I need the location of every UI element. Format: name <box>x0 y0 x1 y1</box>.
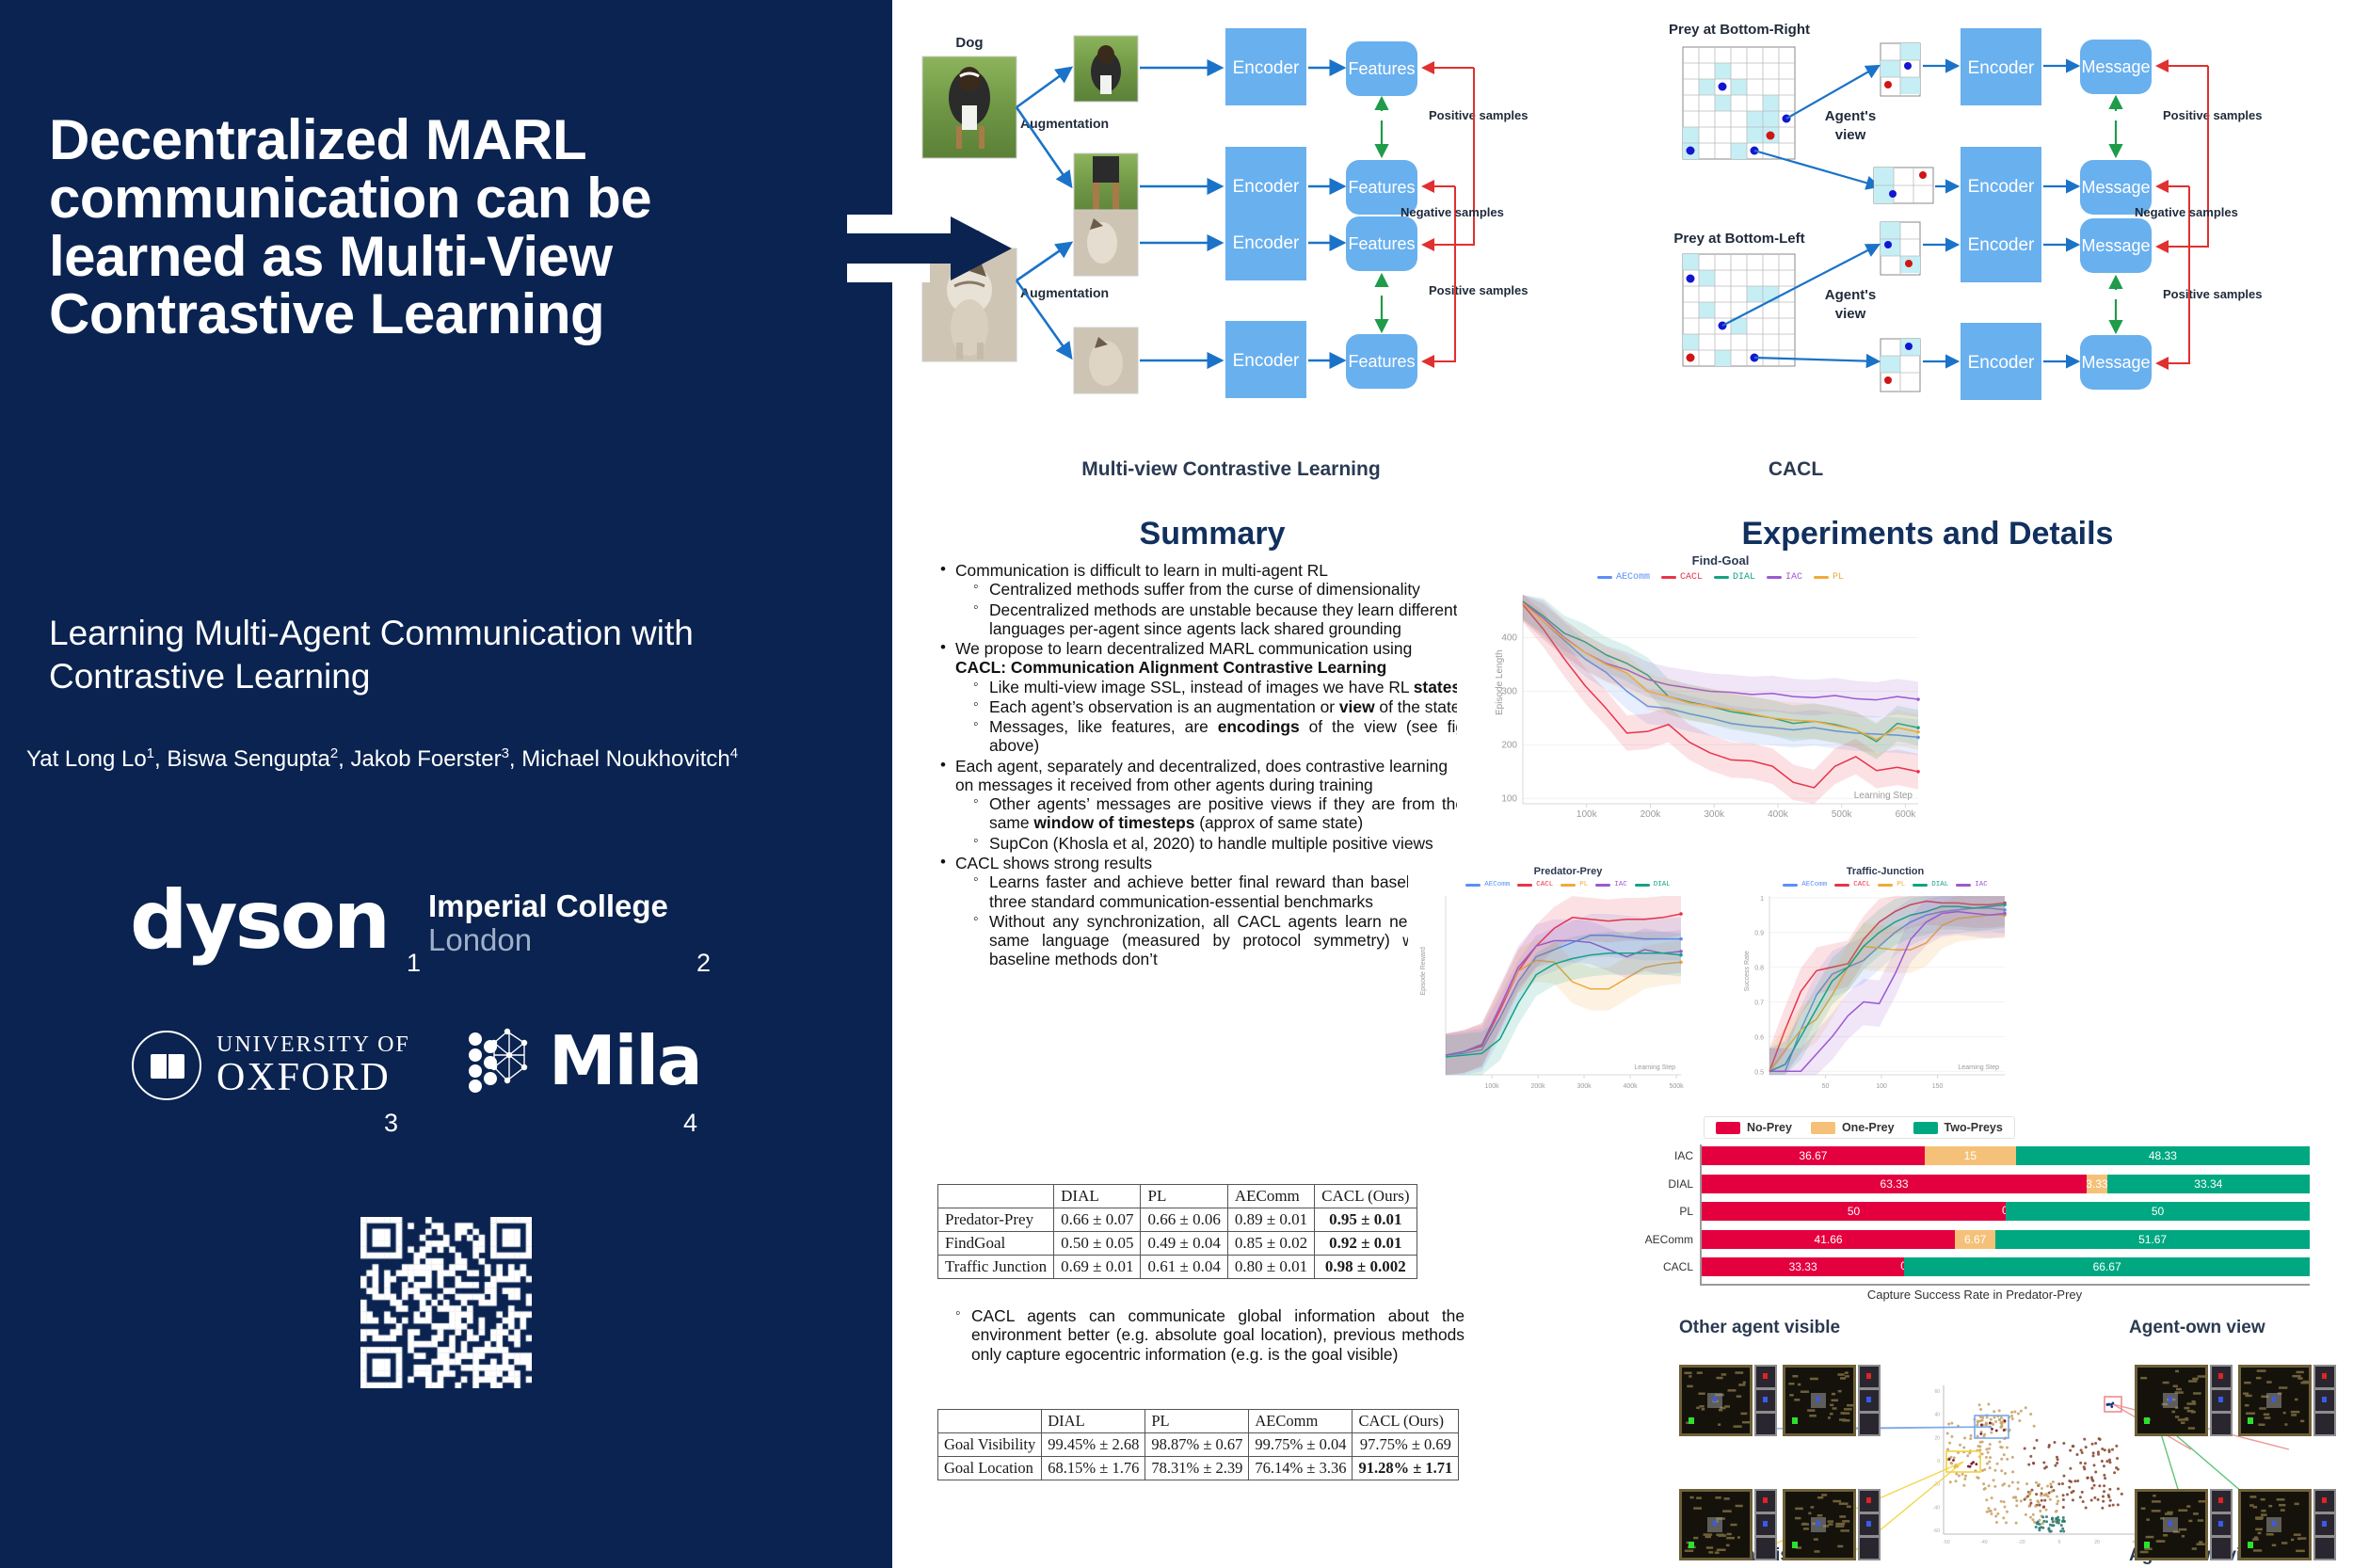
svg-text:Agent's: Agent's <box>1825 287 1876 303</box>
y-axis-tick-label: 200 <box>1501 740 1517 750</box>
predator-prey-plot: 100k200k300k400k500kLearning StepEpisode… <box>1408 864 1728 1109</box>
table-column-header <box>938 1410 1042 1433</box>
capture-success-rate-chart: No-PreyOne-PreyTwo-Preys IAC36.671548.33… <box>1636 1116 2313 1304</box>
table-row-label: Goal Location <box>938 1457 1042 1480</box>
table-cell: 98.87% ± 0.67 <box>1145 1433 1249 1457</box>
svg-text:Positive samples: Positive samples <box>2163 108 2263 122</box>
y-axis-tick-label: 0.8 <box>1754 966 1764 972</box>
table-cell: 0.95 ± 0.01 <box>1315 1208 1417 1232</box>
table-row-label: Predator-Prey <box>938 1208 1054 1232</box>
dyson-logo-text: dyson <box>130 880 388 961</box>
section-heading-experiments: Experiments and Details <box>1513 516 2342 552</box>
bar-value-label: 48.33 <box>2149 1149 2177 1162</box>
table-cell: 0.80 ± 0.01 <box>1227 1256 1314 1279</box>
table-column-header: CACL (Ours) <box>1353 1410 1459 1433</box>
svg-text:Augmentation: Augmentation <box>1020 116 1109 131</box>
table-column-header <box>938 1185 1054 1208</box>
bar-value-label: 66.67 <box>2093 1260 2121 1273</box>
author-list: Yat Long Lo1, Biswa Sengupta2, Jakob Foe… <box>26 745 892 773</box>
x-axis-tick-label: 100k <box>1484 1083 1499 1090</box>
bar-segment-no-prey: 36.67 <box>1702 1146 1925 1165</box>
maze-thumbnail-agent-own-view-2 <box>2238 1365 2336 1436</box>
bar-value-label: 15 <box>1964 1149 1977 1162</box>
svg-text:Features: Features <box>1348 178 1415 197</box>
university-of-oxford-logo: UNIVERSITY OF OXFORD <box>132 1031 410 1100</box>
legend-color-swatch <box>1811 1122 1835 1134</box>
summary-sub-bullets: Other agents’ messages are positive view… <box>971 794 1465 853</box>
table-cell: 0.66 ± 0.06 <box>1141 1208 1227 1232</box>
mila-logo: Mila <box>466 1026 701 1096</box>
table-row-label: FindGoal <box>938 1232 1054 1256</box>
svg-text:Message: Message <box>2081 178 2150 197</box>
maze-thumbnail-goal-visible-1 <box>1679 1489 1777 1560</box>
poster-right-panel: Dog Augmentation Cat <box>892 0 2353 1568</box>
author-affiliation-index: 2 <box>330 745 338 761</box>
bar-category-label: IAC <box>1674 1146 1702 1165</box>
bar-segment-one-prey: 6.67 <box>1955 1230 1995 1249</box>
table-column-header: PL <box>1145 1410 1249 1433</box>
summary-sub-bullet: Learns faster and achieve better final r… <box>971 872 1465 911</box>
bar-value-label: 6.67 <box>1964 1233 1986 1246</box>
figure-caption-cacl: CACL <box>1570 458 2022 481</box>
stacked-bar-x-title: Capture Success Rate in Predator-Prey <box>1636 1288 2313 1302</box>
bar-segment-no-prey: 33.33 <box>1702 1257 1904 1276</box>
summary-bullet: We propose to learn decentralized MARL c… <box>937 639 1465 756</box>
bar-value-label: 41.66 <box>1815 1233 1843 1246</box>
table-row: Goal Location68.15% ± 1.7678.31% ± 2.397… <box>938 1457 1459 1480</box>
bar-row: IAC36.671548.33 <box>1702 1146 2310 1165</box>
qr-code[interactable] <box>360 1217 532 1388</box>
svg-text:Positive samples: Positive samples <box>1429 283 1529 297</box>
table-row: Predator-Prey0.66 ± 0.070.66 ± 0.060.89 … <box>938 1208 1417 1232</box>
bar-segment-two-preys: 50 <box>2006 1202 2310 1221</box>
svg-text:Encoder: Encoder <box>1233 351 1300 371</box>
probing-paragraph-text: CACL agents can communicate global infor… <box>953 1306 1465 1364</box>
legend-item[interactable]: Two-Preys <box>1913 1121 2003 1134</box>
author-name: Michael Noukhovitch <box>521 746 729 772</box>
dyson-logo: dyson <box>130 880 388 961</box>
affiliation-number-3: 3 <box>384 1109 398 1138</box>
table-cell: 0.69 ± 0.01 <box>1054 1256 1141 1279</box>
svg-text:Positive samples: Positive samples <box>1429 108 1529 122</box>
svg-text:Augmentation: Augmentation <box>1020 285 1109 300</box>
summary-sub-bullet: Without any synchronization, all CACL ag… <box>971 912 1465 969</box>
table-column-header: DIAL <box>1054 1185 1141 1208</box>
bar-row: DIAL63.333.3333.34 <box>1702 1175 2310 1193</box>
table-row-label: Goal Visibility <box>938 1433 1042 1457</box>
legend-label: No-Prey <box>1747 1121 1792 1134</box>
maze-thumbnail-agent-own-view-1 <box>2135 1365 2233 1436</box>
author-affiliation-index: 4 <box>730 745 738 761</box>
legend-color-swatch <box>1716 1122 1740 1134</box>
summary-sub-bullets: Learns faster and achieve better final r… <box>971 872 1465 968</box>
legend-color-swatch <box>1913 1122 1938 1134</box>
summary-sub-bullets: Centralized methods suffer from the curs… <box>971 580 1465 638</box>
mila-logo-text: Mila <box>549 1027 701 1095</box>
tsne-scatter-plot: -50-40-2002040606040200-20-40-60 <box>1664 1318 2342 1568</box>
table-row: Goal Visibility99.45% ± 2.6898.87% ± 0.6… <box>938 1433 1459 1457</box>
table-cell: 76.14% ± 3.36 <box>1249 1457 1353 1480</box>
table-cell: 78.31% ± 2.39 <box>1145 1457 1249 1480</box>
y-axis-title: Episode Length <box>1495 649 1505 715</box>
bar-value-label: 50 <box>2152 1205 2164 1218</box>
table-cell: 0.92 ± 0.01 <box>1315 1232 1417 1256</box>
bar-category-label: PL <box>1679 1202 1702 1221</box>
x-axis-tick-label: -50 <box>1943 1540 1949 1545</box>
table-cell: 91.28% ± 1.71 <box>1353 1457 1459 1480</box>
bar-row: PL50050 <box>1702 1202 2310 1221</box>
mila-dots-icon <box>466 1026 539 1096</box>
svg-text:Message: Message <box>2081 57 2150 76</box>
x-axis-tick-label: -20 <box>2018 1540 2025 1545</box>
x-axis-tick-label: 50 <box>1822 1083 1830 1090</box>
affiliation-number-1: 1 <box>407 949 421 978</box>
svg-text:Prey at Bottom-Left: Prey at Bottom-Left <box>1673 231 1804 247</box>
author-name: Yat Long Lo <box>26 746 147 772</box>
bar-value-label: 36.67 <box>1799 1149 1827 1162</box>
x-axis-tick-label: 600k <box>1896 809 1917 820</box>
x-axis-tick-label: 500k <box>1832 809 1853 820</box>
svg-text:Encoder: Encoder <box>1233 58 1300 78</box>
table-cell: 0.49 ± 0.04 <box>1141 1232 1227 1256</box>
svg-text:Negative samples: Negative samples <box>2135 205 2238 219</box>
table-cell: 0.50 ± 0.05 <box>1054 1232 1141 1256</box>
maze-thumbnail-agent-own-view-4 <box>2238 1489 2336 1560</box>
x-axis-title: Learning Step <box>1634 1064 1675 1071</box>
summary-bullet-list: Communication is difficult to learn in m… <box>937 561 1465 970</box>
x-axis-tick-label: 300k <box>1704 809 1725 820</box>
svg-text:Message: Message <box>2081 236 2150 255</box>
bar-row: AEComm41.666.6751.67 <box>1702 1230 2310 1249</box>
bar-segment-two-preys: 33.34 <box>2107 1175 2310 1193</box>
summary-bullet-emphasis: CACL: Communication Alignment Contrastiv… <box>955 658 1465 677</box>
y-axis-tick-label: 400 <box>1501 633 1517 644</box>
x-axis-tick-label: 200k <box>1641 809 1662 820</box>
summary-sub-bullet: SupCon (Khosla et al, 2020) to handle mu… <box>971 834 1465 853</box>
x-axis-tick-label: 100k <box>1577 809 1598 820</box>
table-header-row: DIALPLAECommCACL (Ours) <box>938 1410 1459 1433</box>
y-axis-tick-label: 1 <box>1760 896 1764 903</box>
bar-segment-two-preys: 51.67 <box>1995 1230 2310 1249</box>
svg-text:Encoder: Encoder <box>1233 177 1300 197</box>
bar-value-label: 63.33 <box>1881 1177 1909 1191</box>
probing-accuracy-table: DIALPLAECommCACL (Ours) Goal Visibility9… <box>937 1409 1459 1480</box>
svg-text:Encoder: Encoder <box>1968 353 2035 373</box>
author-affiliation-index: 3 <box>502 745 509 761</box>
benchmark-performance-table: DIALPLAECommCACL (Ours) Predator-Prey0.6… <box>937 1184 1417 1279</box>
traffic-junction-plot: 0.50.60.70.80.9150100150Learning StepSuc… <box>1730 864 2041 1109</box>
bar-segment-two-preys: 66.67 <box>1904 1257 2310 1276</box>
table-column-header: AEComm <box>1249 1410 1353 1433</box>
x-axis-tick-label: 400k <box>1623 1083 1638 1090</box>
summary-sub-bullet-emphasis: window of timesteps <box>1033 813 1194 832</box>
icl-logo-line1: Imperial College <box>428 889 668 923</box>
y-axis-title: Success Rate <box>1744 951 1751 991</box>
summary-sub-bullet-emphasis: states <box>1414 678 1461 696</box>
legend-item[interactable]: One-Prey <box>1811 1121 1895 1134</box>
section-heading-summary: Summary <box>949 516 1476 552</box>
bar-segment-one-prey: 3.33 <box>2087 1175 2107 1193</box>
x-axis-tick-label: 200k <box>1530 1083 1545 1090</box>
summary-sub-bullet-emphasis: view <box>1339 697 1375 716</box>
summary-bullet: Communication is difficult to learn in m… <box>937 561 1465 638</box>
x-axis-tick-label: 150 <box>1932 1083 1944 1090</box>
bar-segment-two-preys: 48.33 <box>2016 1146 2310 1165</box>
y-axis-tick-label: 0.5 <box>1754 1069 1764 1076</box>
x-axis-tick-label: -40 <box>1980 1540 1987 1545</box>
svg-text:Positive samples: Positive samples <box>2163 287 2263 301</box>
y-axis-tick-label: -60 <box>1933 1528 1940 1534</box>
figure-caption-multiview: Multi-view Contrastive Learning <box>1005 458 1457 481</box>
svg-text:Features: Features <box>1348 352 1415 371</box>
summary-sub-bullet: Like multi-view image SSL, instead of im… <box>971 678 1465 696</box>
maze-thumbnail-other-agent-visible-2 <box>1783 1365 1881 1436</box>
bar-category-label: AEComm <box>1645 1230 1702 1249</box>
x-axis-tick-label: 0 <box>2058 1540 2061 1545</box>
predator-prey-chart: Predator-Prey AECommCACLPLIACDIAL 100k20… <box>1408 864 1728 1109</box>
table-cell: 0.85 ± 0.02 <box>1227 1232 1314 1256</box>
summary-bullet: Each agent, separately and decentralized… <box>937 757 1465 853</box>
table-header-row: DIALPLAECommCACL (Ours) <box>938 1185 1417 1208</box>
table-column-header: AEComm <box>1227 1185 1314 1208</box>
y-axis-tick-label: 60 <box>1934 1389 1940 1395</box>
table-cell: 0.66 ± 0.07 <box>1054 1208 1141 1232</box>
summary-sub-bullet-emphasis: encodings <box>1218 717 1300 736</box>
table-column-header: CACL (Ours) <box>1315 1185 1417 1208</box>
y-axis-tick-label: 40 <box>1934 1413 1940 1418</box>
svg-text:Encoder: Encoder <box>1233 233 1300 253</box>
table-cell: 97.75% ± 0.69 <box>1353 1433 1459 1457</box>
svg-text:view: view <box>1835 127 1866 143</box>
traffic-junction-chart: Traffic-Junction AECommCACLPLDIALIAC 0.5… <box>1730 864 2041 1109</box>
x-axis-tick-label: 300k <box>1577 1083 1592 1090</box>
y-axis-tick-label: 100 <box>1501 793 1517 804</box>
svg-text:Dog: Dog <box>955 35 983 51</box>
stacked-bar-x-axis <box>1700 1284 2310 1286</box>
y-axis-tick-label: 0 <box>1937 1459 1940 1464</box>
bar-row: CACL33.33066.67 <box>1702 1257 2310 1276</box>
summary-sub-bullet: Centralized methods suffer from the curs… <box>971 580 1465 599</box>
x-axis-tick-label: 20 <box>2094 1540 2100 1545</box>
x-axis-title: Learning Step <box>1958 1064 1999 1071</box>
table-cell: 99.75% ± 0.04 <box>1249 1433 1353 1457</box>
bar-category-label: CACL <box>1663 1257 1702 1276</box>
cacl-diagram: Prey at Bottom-Right <box>1636 8 2344 450</box>
svg-text:view: view <box>1835 306 1866 322</box>
bar-segment-no-prey: 50 <box>1702 1202 2006 1221</box>
table-cell: 99.45% ± 2.68 <box>1042 1433 1145 1457</box>
y-axis-tick-label: 0.9 <box>1754 931 1764 937</box>
bar-segment-no-prey: 63.33 <box>1702 1175 2087 1193</box>
summary-sub-bullet: Decentralized methods are unstable becau… <box>971 600 1465 639</box>
oxford-crest-icon <box>132 1031 201 1100</box>
bar-segment-no-prey: 41.66 <box>1702 1230 1955 1249</box>
svg-text:Features: Features <box>1348 59 1415 78</box>
maze-thumbnail-agent-own-view-3 <box>2135 1489 2233 1560</box>
y-axis-tick-label: 0.7 <box>1754 1000 1764 1007</box>
x-axis-title: Learning Step <box>1854 791 1913 801</box>
author-name: Jakob Foerster <box>351 746 502 772</box>
summary-sub-bullet: Messages, like features, are encodings o… <box>971 717 1465 756</box>
svg-text:Prey at Bottom-Right: Prey at Bottom-Right <box>1669 22 1810 38</box>
flow-arrow-icon <box>847 215 1016 282</box>
x-axis-tick-label: 100 <box>1876 1083 1887 1090</box>
summary-sub-bullets: Like multi-view image SSL, instead of im… <box>971 678 1465 756</box>
table-body: Goal Visibility99.45% ± 2.6898.87% ± 0.6… <box>938 1433 1459 1480</box>
bar-value-label: 51.67 <box>2138 1233 2167 1246</box>
y-axis-tick-label: 0.6 <box>1754 1034 1764 1041</box>
svg-text:Encoder: Encoder <box>1968 58 2035 78</box>
bar-segment-one-prey: 15 <box>1925 1146 2016 1165</box>
author-name: Biswa Sengupta <box>167 746 329 772</box>
y-axis-tick-label: -40 <box>1933 1505 1940 1511</box>
icl-logo-line2: London <box>428 923 668 957</box>
page-title: Decentralized MARL communication can be … <box>49 111 840 344</box>
bar-value-label: 3.33 <box>2086 1177 2107 1191</box>
svg-text:Encoder: Encoder <box>1968 177 2035 197</box>
poster-left-panel: Decentralized MARL communication can be … <box>0 0 892 1568</box>
svg-text:Negative samples: Negative samples <box>1401 205 1504 219</box>
bar-value-label: 50 <box>1848 1205 1860 1218</box>
oxford-logo-line1: UNIVERSITY OF <box>216 1032 410 1057</box>
bar-category-label: DIAL <box>1668 1175 1702 1193</box>
find-goal-plot: 100200300400100k200k300k400k500k600kLear… <box>1457 553 1984 836</box>
summary-bullet: CACL shows strong resultsLearns faster a… <box>937 854 1465 969</box>
x-axis-tick-label: 400k <box>1768 809 1789 820</box>
author-affiliation-index: 1 <box>147 745 154 761</box>
svg-text:Features: Features <box>1348 234 1415 253</box>
legend-label: One-Prey <box>1842 1121 1895 1134</box>
svg-text:Encoder: Encoder <box>1968 235 2035 255</box>
stacked-bar-legend: No-PreyOne-PreyTwo-Preys <box>1704 1116 2015 1139</box>
bar-value-label: 33.34 <box>2194 1177 2222 1191</box>
oxford-logo-line2: OXFORD <box>216 1057 410 1098</box>
table-column-header: DIAL <box>1042 1410 1145 1433</box>
legend-label: Two-Preys <box>1945 1121 2003 1134</box>
summary-sub-bullet: Other agents’ messages are positive view… <box>971 794 1465 833</box>
find-goal-chart: Find-Goal AECommCACLDIALIACPL 1002003004… <box>1457 553 1984 836</box>
paper-subtitle: Learning Multi-Agent Communication with … <box>49 612 858 698</box>
maze-thumbnail-other-agent-visible-1 <box>1679 1365 1777 1436</box>
x-axis-tick-label: 500k <box>1670 1083 1685 1090</box>
table-row: Traffic Junction0.69 ± 0.010.61 ± 0.040.… <box>938 1256 1417 1279</box>
summary-sub-bullet: Each agent’s observation is an augmentat… <box>971 697 1465 716</box>
legend-item[interactable]: No-Prey <box>1716 1121 1792 1134</box>
affiliation-number-2: 2 <box>696 949 711 978</box>
imperial-college-london-logo: Imperial College London <box>428 889 668 956</box>
y-axis-title: Episode Reward <box>1420 947 1427 995</box>
maze-thumbnail-goal-visible-2 <box>1783 1489 1881 1560</box>
svg-text:Agent's: Agent's <box>1825 108 1876 124</box>
table-cell: 0.98 ± 0.002 <box>1315 1256 1417 1279</box>
table-cell: 0.89 ± 0.01 <box>1227 1208 1314 1232</box>
table-row-label: Traffic Junction <box>938 1256 1054 1279</box>
y-axis-tick-label: 20 <box>1934 1435 1940 1441</box>
message-tsne-panel: Other agent visible Agent-own view Goal … <box>1664 1318 2342 1568</box>
table-row: FindGoal0.50 ± 0.050.49 ± 0.040.85 ± 0.0… <box>938 1232 1417 1256</box>
table-column-header: PL <box>1141 1185 1227 1208</box>
affiliation-number-4: 4 <box>683 1109 697 1138</box>
table-body: Predator-Prey0.66 ± 0.070.66 ± 0.060.89 … <box>938 1208 1417 1279</box>
bar-value-label: 33.33 <box>1789 1260 1817 1273</box>
probing-paragraph: CACL agents can communicate global infor… <box>937 1306 1465 1365</box>
table-cell: 68.15% ± 1.76 <box>1042 1457 1145 1480</box>
svg-text:Message: Message <box>2081 353 2150 372</box>
summary-bullets: Communication is difficult to learn in m… <box>937 561 1465 969</box>
table-cell: 0.61 ± 0.04 <box>1141 1256 1227 1279</box>
